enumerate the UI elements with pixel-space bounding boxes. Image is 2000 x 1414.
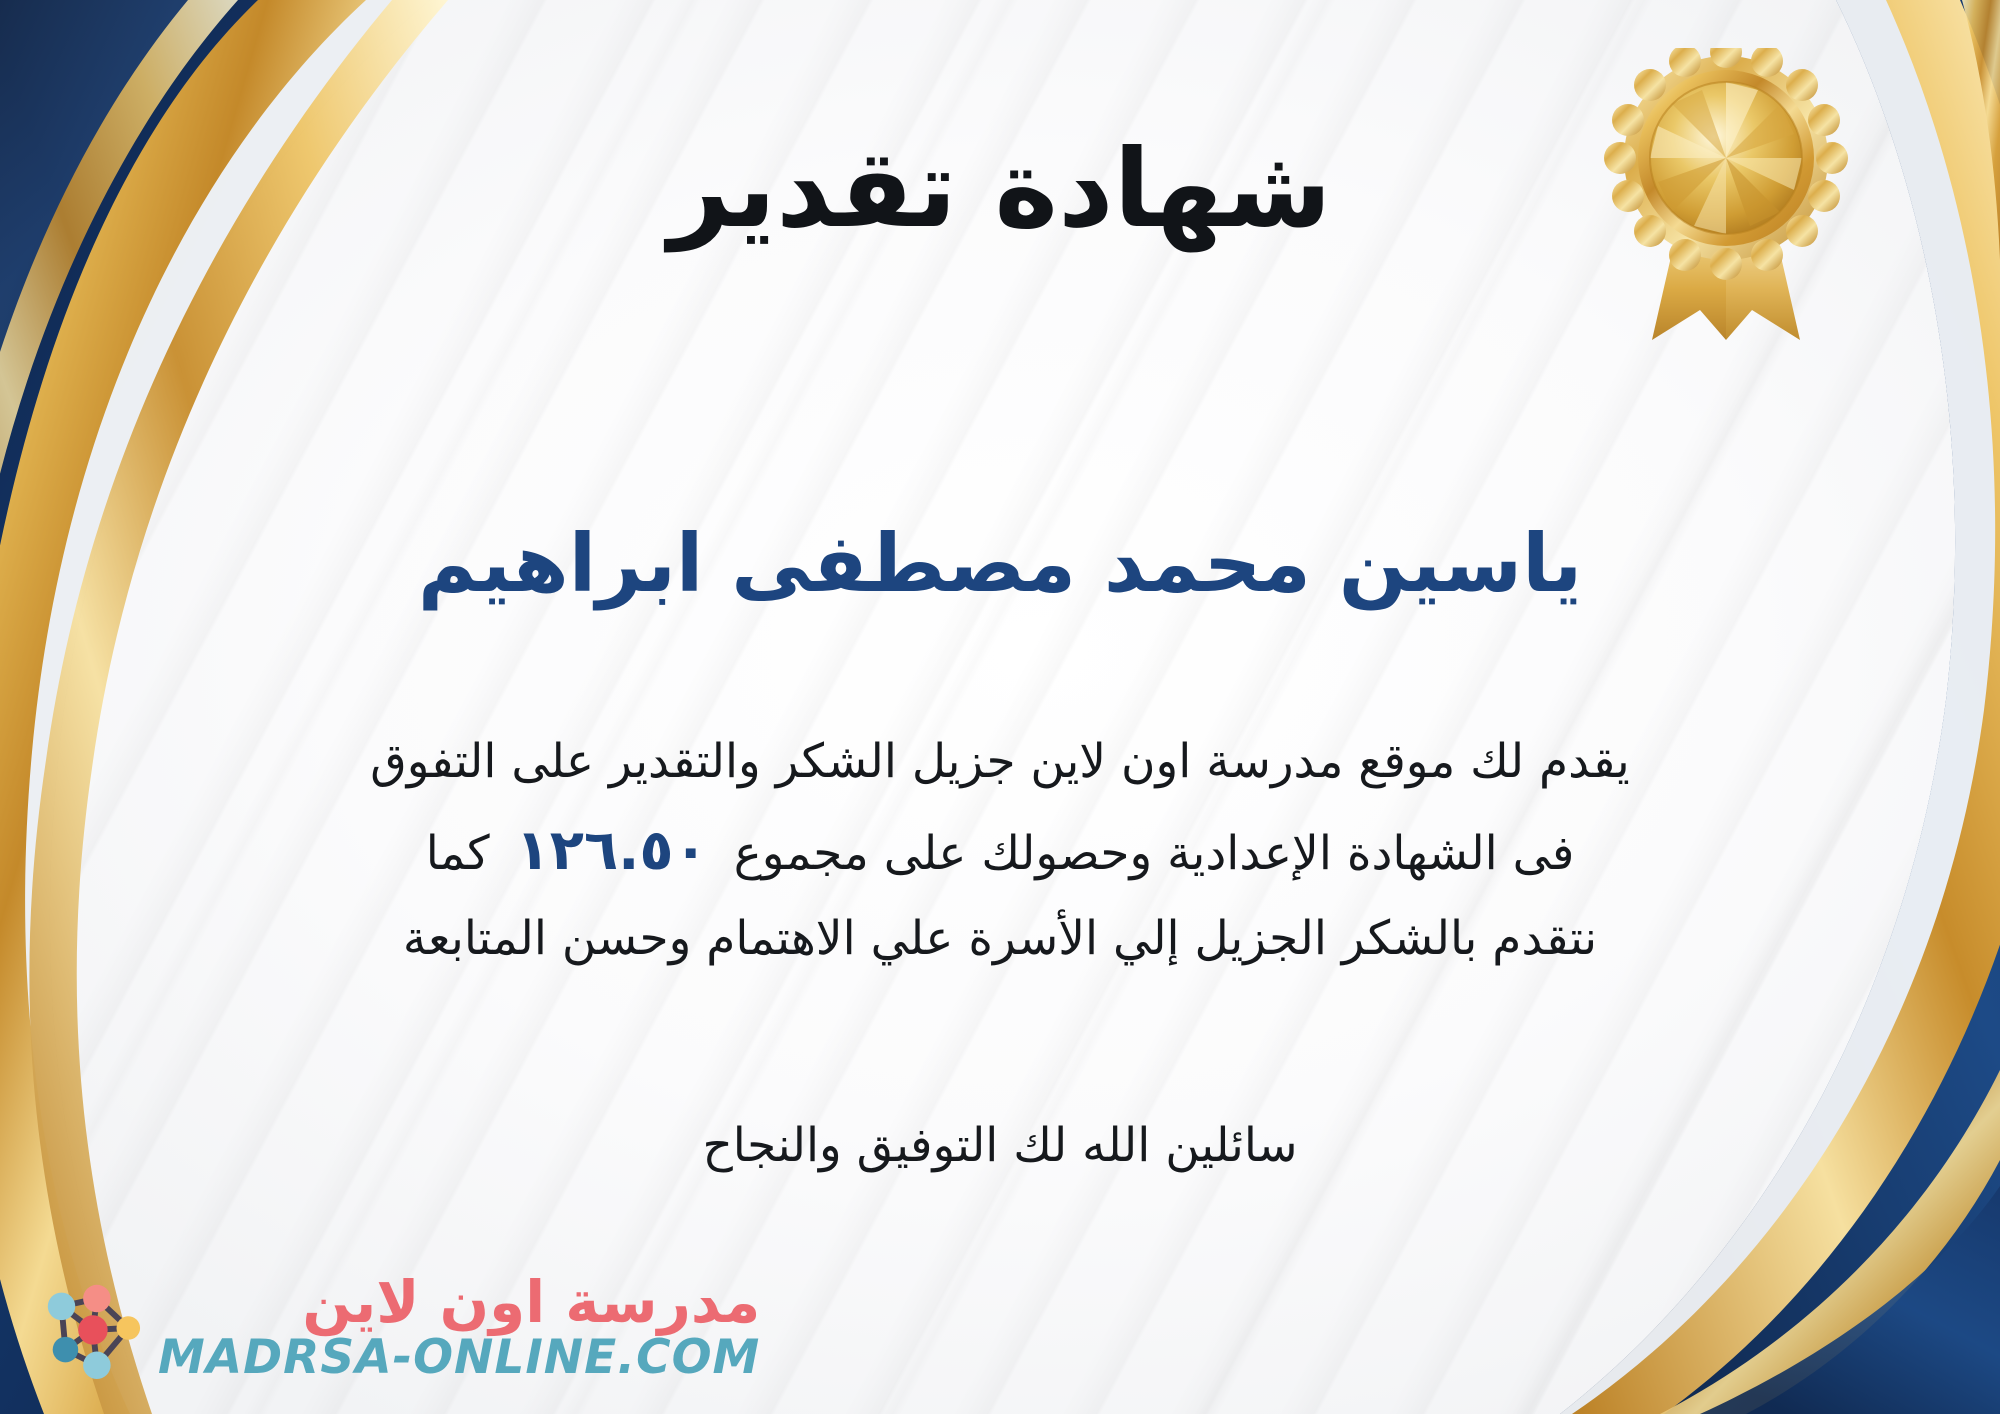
node-lightblue-icon — [48, 1293, 75, 1320]
certificate-page: شهادة تقدير ياسين محمد مصطفى ابراهيم يقد… — [0, 0, 2000, 1414]
brand-logo[interactable]: مدرسة اون لاين MADRSA-ONLINE.COM — [36, 1272, 760, 1382]
body-line-2-suffix: كما — [426, 826, 490, 881]
total-score-value: ١٢٦.٥٠ — [490, 818, 734, 883]
body-line-2-prefix: فى الشهادة الإعدادية وحصولك على مجموع — [734, 826, 1575, 881]
node-red-icon — [78, 1315, 107, 1344]
closing-wish-line: سائلين الله لك التوفيق والنجاح — [0, 1118, 2000, 1173]
brand-website[interactable]: MADRSA-ONLINE.COM — [158, 1333, 760, 1382]
body-line-2: فى الشهادة الإعدادية وحصولك على مجموع١٢٦… — [55, 803, 1945, 899]
body-line-1: يقدم لك موقع مدرسة اون لاين جزيل الشكر و… — [55, 722, 1945, 803]
brand-arabic-name: مدرسة اون لاين — [302, 1272, 760, 1333]
body-line-3: نتقدم بالشكر الجزيل إلي الأسرة علي الاهت… — [55, 899, 1945, 980]
brand-text: مدرسة اون لاين MADRSA-ONLINE.COM — [158, 1272, 760, 1382]
node-teal-icon — [53, 1337, 79, 1363]
certificate-body: يقدم لك موقع مدرسة اون لاين جزيل الشكر و… — [55, 722, 1945, 980]
gold-medal-rosette-icon — [1596, 48, 1856, 348]
node-yellow-icon — [117, 1316, 141, 1340]
recipient-name: ياسين محمد مصطفى ابراهيم — [0, 516, 2000, 612]
node-lightblue2-icon — [83, 1351, 110, 1378]
node-coral-icon — [83, 1285, 110, 1312]
network-nodes-icon — [36, 1273, 144, 1381]
